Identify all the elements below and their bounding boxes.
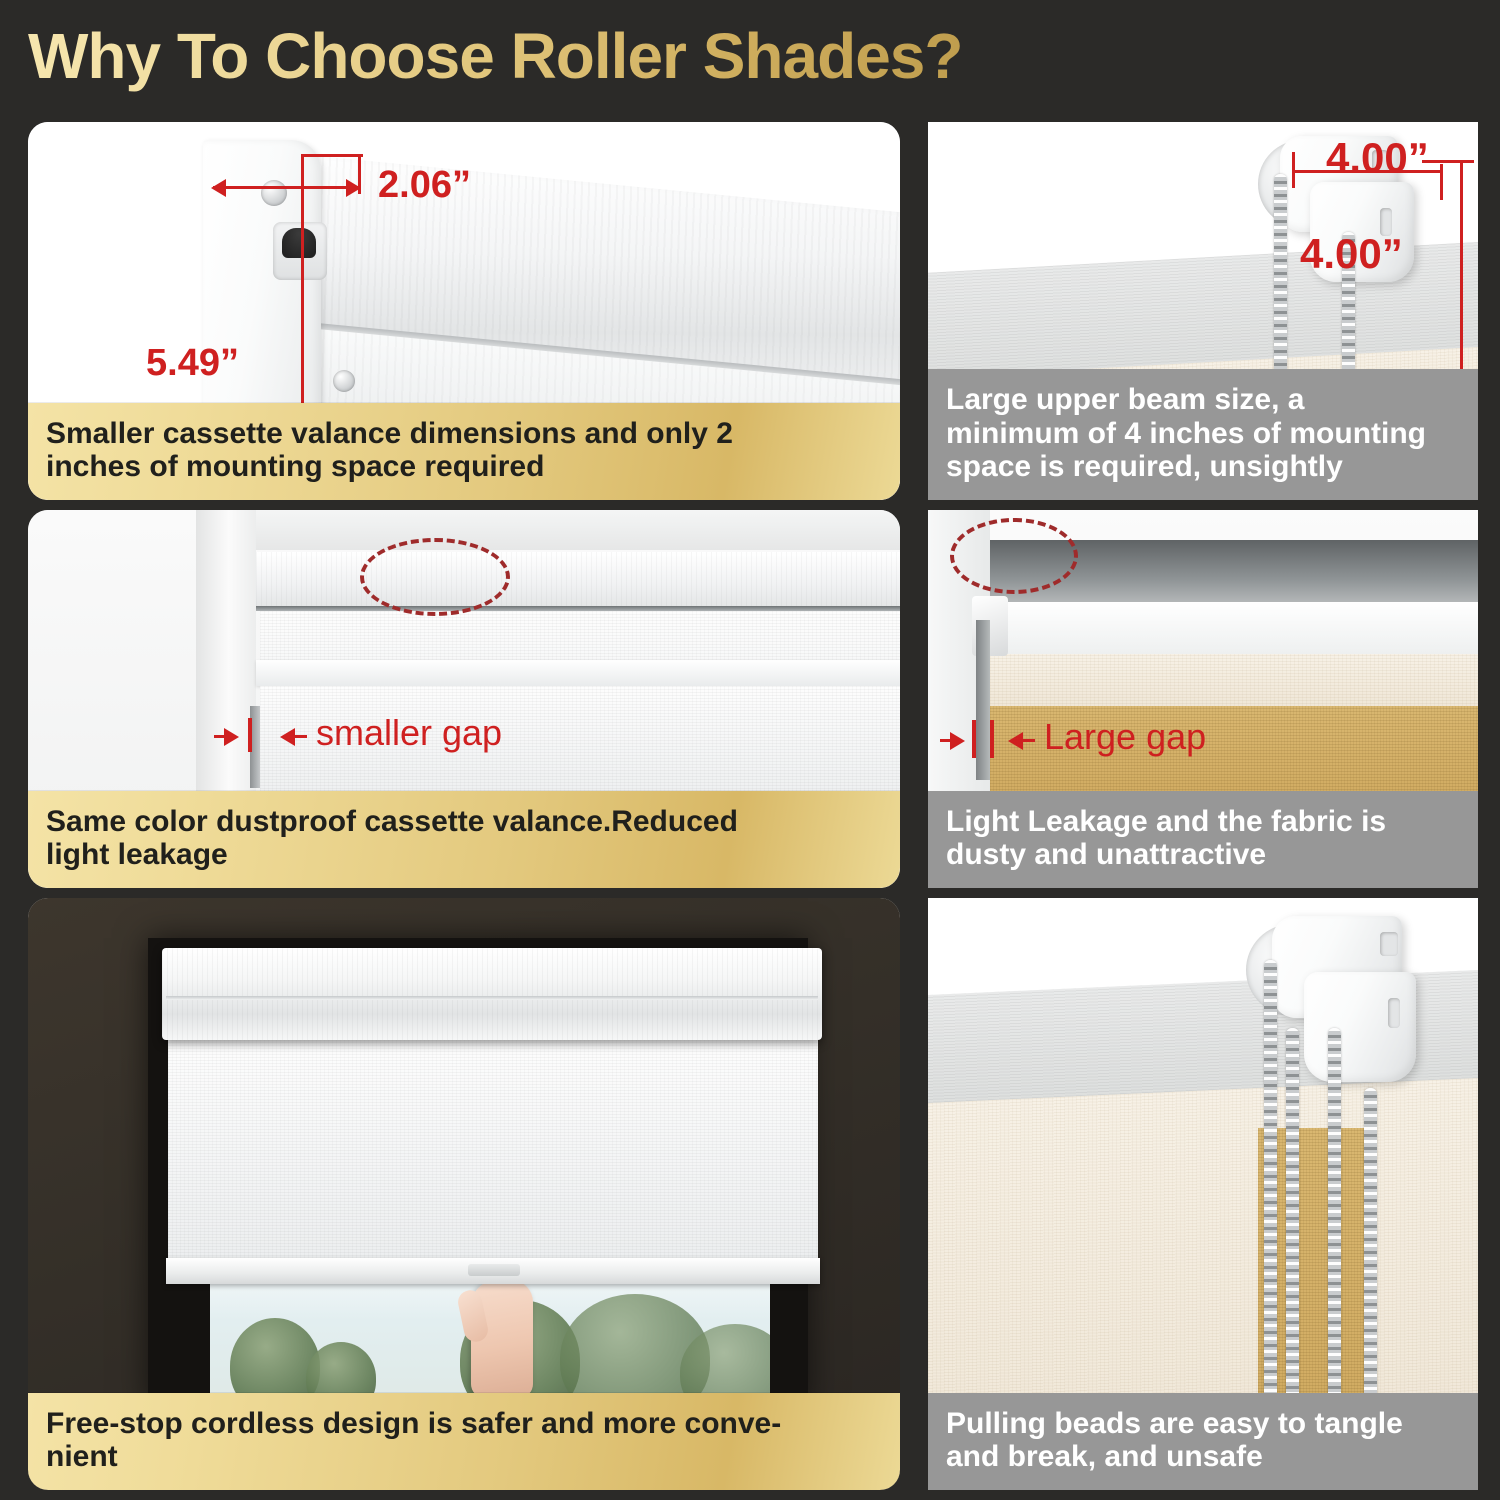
bead-chain[interactable] [1264, 960, 1277, 1440]
screw-icon [333, 370, 355, 392]
highlight-circle-gap [950, 518, 1078, 594]
rail-grip[interactable] [468, 1264, 520, 1276]
height-dimension-label: 4.00” [1300, 230, 1403, 278]
white-rail [990, 602, 1478, 654]
cassette-valance [162, 948, 822, 1040]
gap-label: smaller gap [316, 712, 502, 754]
shade-rail [256, 660, 900, 686]
caption-con-pulling-beads: Pulling beads are easy to tangle and bre… [928, 1393, 1478, 1490]
valance-seam [166, 996, 818, 1000]
caption-line: inches of mounting space required [46, 450, 882, 484]
panel-pro-cassette-dimensions: 2.06” 5.49” Smaller cassette valance dim… [28, 122, 900, 500]
caption-line: minimum of 4 inches of mounting [946, 417, 1460, 451]
caption-line: Free-stop cordless design is safer and m… [46, 1407, 882, 1441]
panel-con-light-leakage: Large gap Light Leakage and the fabric i… [928, 510, 1478, 888]
caption-line: nient [46, 1440, 882, 1474]
caption-con-light-leakage: Light Leakage and the fabric is dusty an… [928, 791, 1478, 888]
shade-fabric-cream [990, 654, 1478, 710]
panel-con-pulling-beads: Pulling beads are easy to tangle and bre… [928, 898, 1478, 1490]
width-dimension-label: 2.06” [378, 164, 471, 207]
caption-pro-cordless-design: Free-stop cordless design is safer and m… [28, 1393, 900, 1490]
gap-tick [248, 718, 252, 752]
arrow-left-icon [211, 179, 226, 197]
screw-icon [261, 180, 287, 206]
caption-con-large-upper-beam: Large upper beam size, a minimum of 4 in… [928, 369, 1478, 500]
caption-line: space is required, unsightly [946, 450, 1460, 484]
bead-chain[interactable] [1286, 1028, 1299, 1440]
gap-label: Large gap [1044, 716, 1206, 758]
caption-line: Same color dustproof cassette valance.Re… [46, 805, 882, 839]
caption-line: Pulling beads are easy to tangle [946, 1407, 1460, 1441]
height-top-tick [301, 154, 363, 157]
cassette-valance [256, 552, 900, 610]
width-dimension-line [213, 186, 361, 189]
caption-line: Large upper beam size, a [946, 383, 1460, 417]
height-dimension-label: 5.49” [146, 342, 239, 385]
bead-chain[interactable] [1364, 1088, 1377, 1440]
gap-tick [972, 720, 976, 758]
bracket-notch [1388, 998, 1400, 1028]
bead-chain[interactable] [1274, 174, 1287, 384]
gap-arrow-line [214, 735, 228, 738]
comparison-grid: 2.06” 5.49” Smaller cassette valance dim… [0, 112, 1500, 1500]
page-title: Why To Choose Roller Shades? [28, 19, 962, 93]
gap-arrow-line [1021, 739, 1035, 742]
gap-tick [990, 720, 994, 758]
caption-pro-cassette-dimensions: Smaller cassette valance dimensions and … [28, 403, 900, 500]
highlight-circle-seam [360, 538, 510, 616]
caption-line: Light Leakage and the fabric is [946, 805, 1460, 839]
caption-line: Smaller cassette valance dimensions and … [46, 417, 882, 451]
bracket-lower [1304, 972, 1416, 1082]
height-tick [1422, 160, 1474, 163]
panel-pro-cordless-design: Free-stop cordless design is safer and m… [28, 898, 900, 1490]
width-tick [1440, 164, 1443, 200]
bracket-notch [1380, 932, 1398, 956]
caption-line: light leakage [46, 838, 882, 872]
width-dimension-label: 4.00” [1326, 134, 1429, 182]
bead-chain[interactable] [1328, 1028, 1341, 1440]
window-frame-top [196, 510, 900, 550]
width-tick [1292, 152, 1295, 188]
gap-arrow-line [940, 739, 954, 742]
caption-pro-smaller-gap: Same color dustproof cassette valance.Re… [28, 791, 900, 888]
height-dimension-line [1460, 160, 1463, 380]
width-extension-tick [358, 154, 361, 194]
gap-arrow-line [293, 735, 307, 738]
caption-line: and break, and unsafe [946, 1440, 1460, 1474]
panel-con-large-upper-beam: 4.00” 4.00” Large upper beam size, a min… [928, 122, 1478, 500]
gap-edge [976, 620, 990, 780]
header-bar: Why To Choose Roller Shades? [0, 0, 1500, 112]
shade-fabric [168, 1040, 818, 1262]
caption-line: dusty and unattractive [946, 838, 1460, 872]
panel-pro-smaller-gap: smaller gap Same color dustproof cassett… [28, 510, 900, 888]
clutch-slot [273, 222, 327, 280]
